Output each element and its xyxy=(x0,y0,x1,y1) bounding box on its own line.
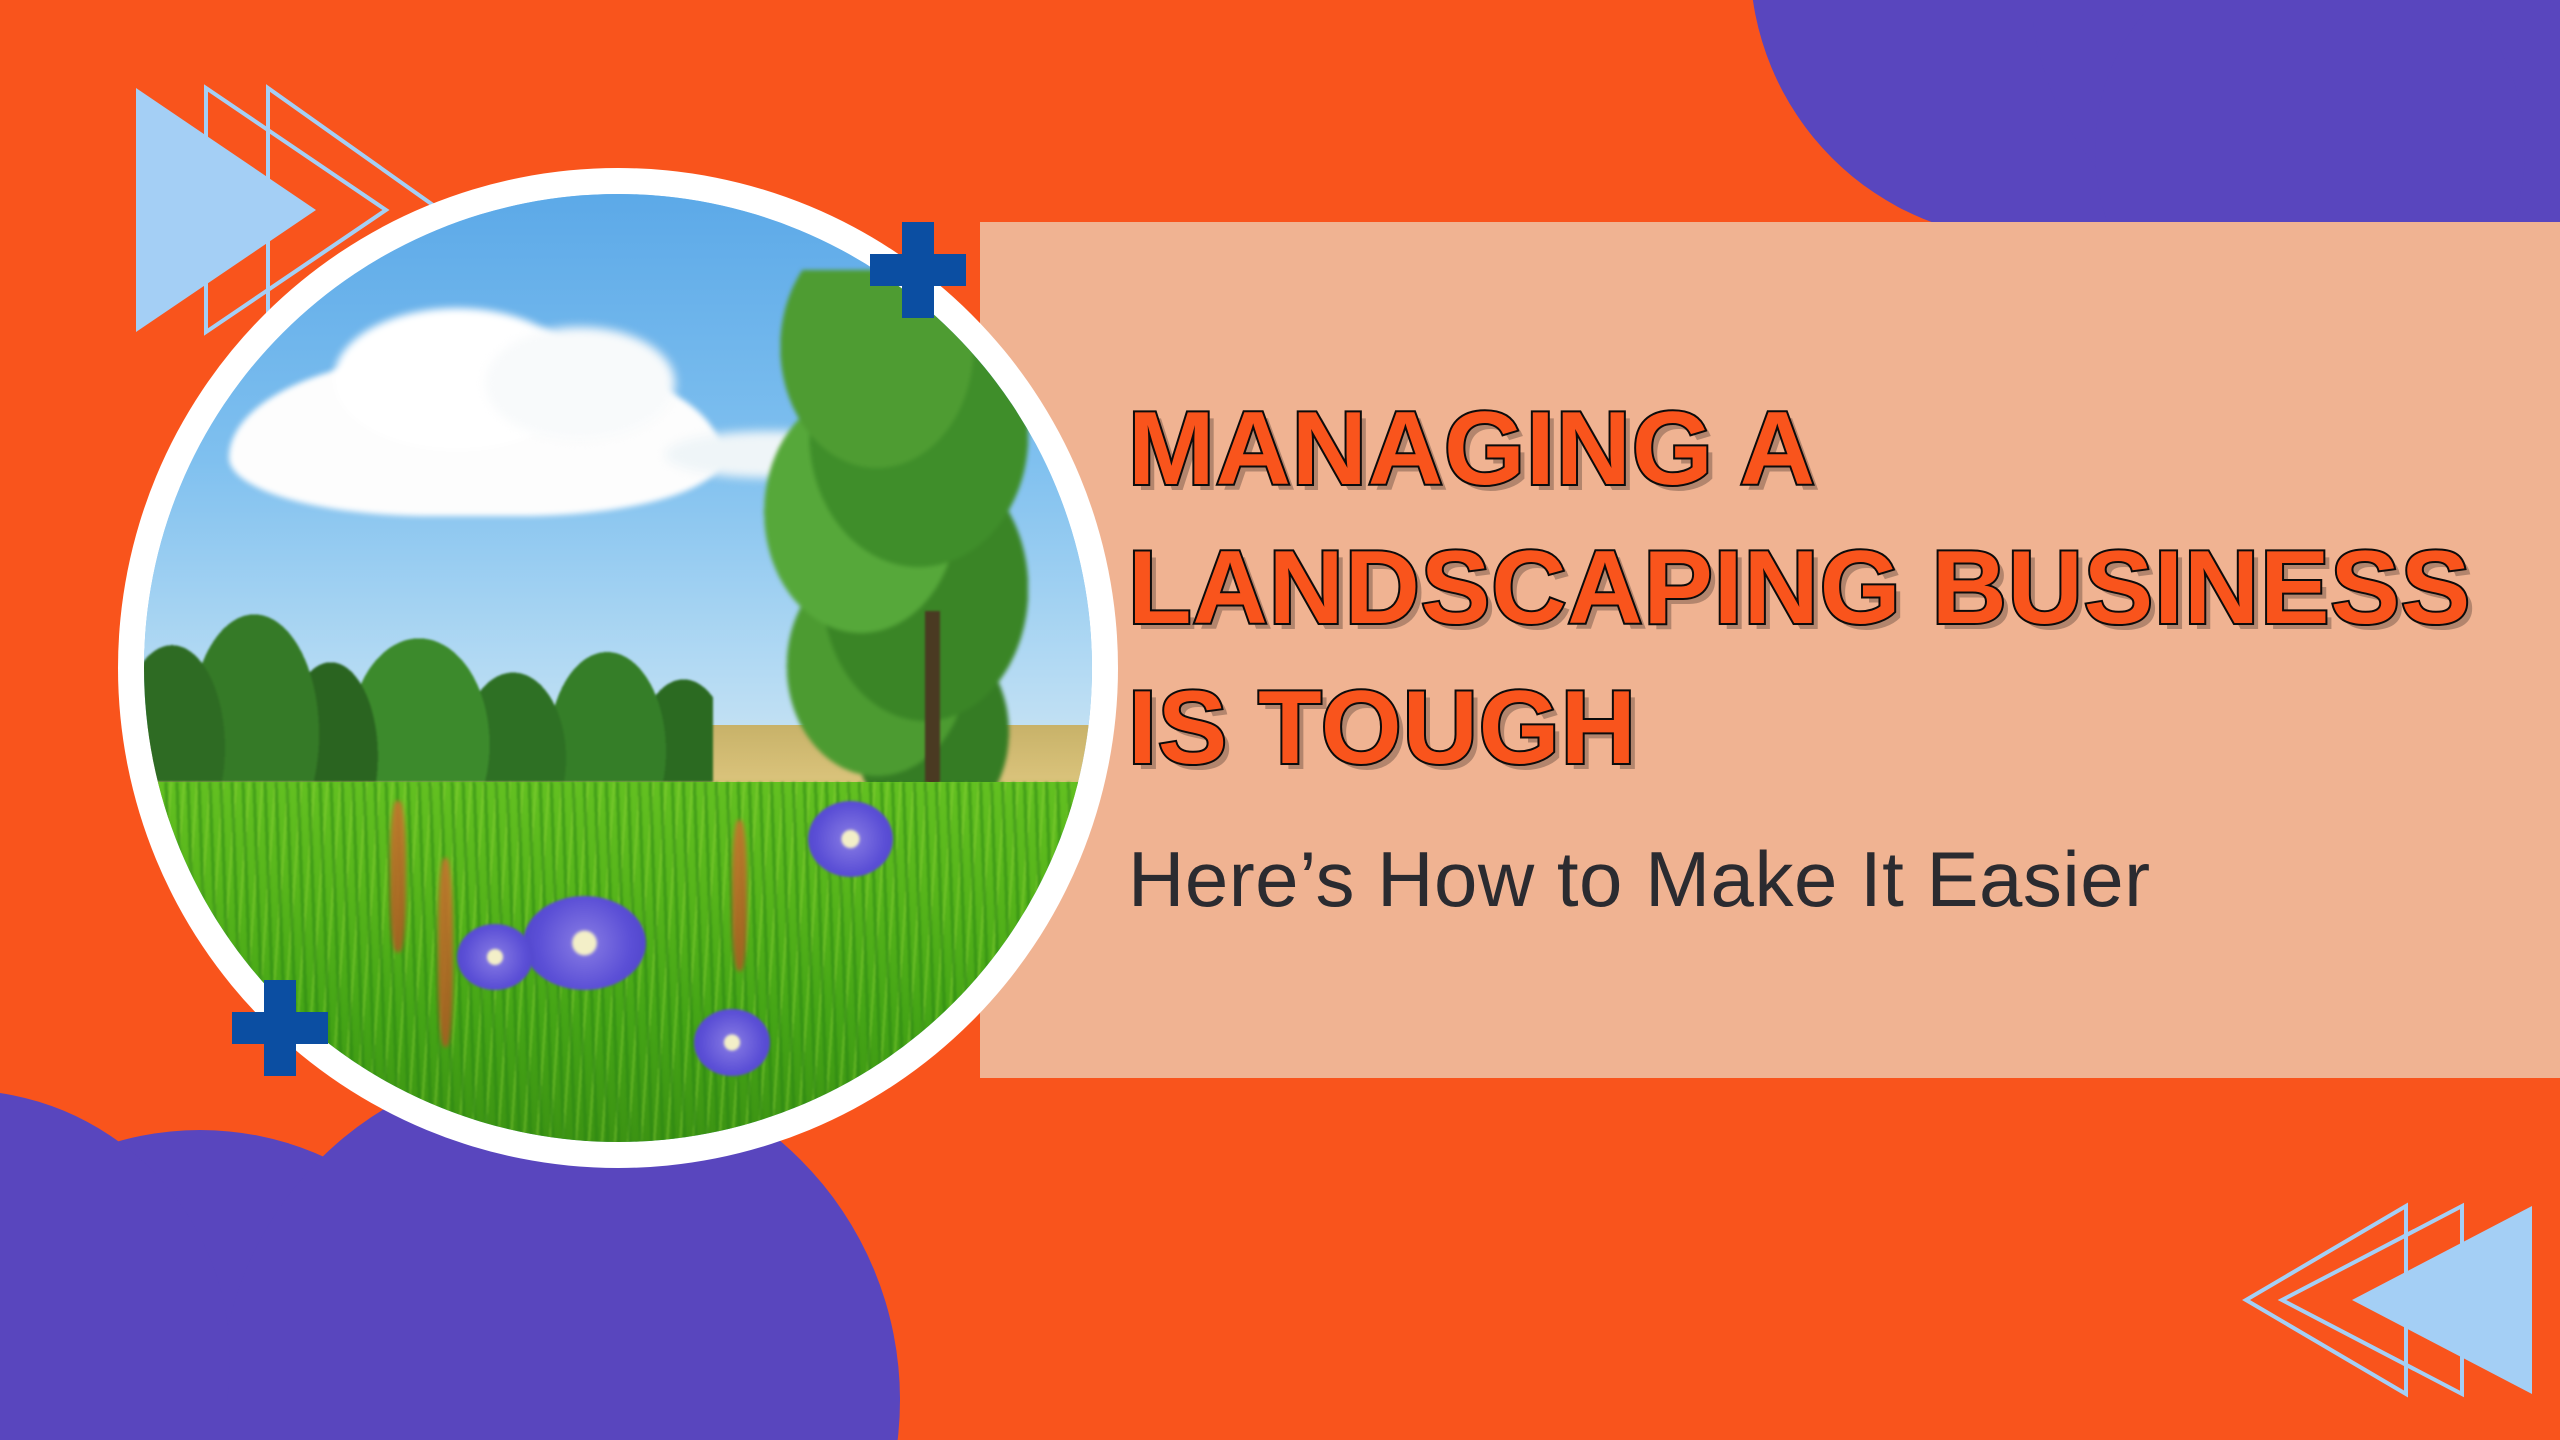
blue-flower xyxy=(808,801,893,877)
page-title: MANAGING A LANDSCAPING BUSINESS IS TOUGH xyxy=(1128,380,2528,798)
chevron-left-icon xyxy=(2240,1200,2540,1400)
blue-flower xyxy=(694,1009,770,1075)
cloud-puff xyxy=(485,327,675,441)
seedhead-plant xyxy=(390,801,405,953)
plus-mark-top xyxy=(870,222,966,318)
willow-tree xyxy=(732,270,1054,820)
poster-canvas: MANAGING A LANDSCAPING BUSINESS IS TOUGH… xyxy=(0,0,2560,1440)
plus-mark-bottom xyxy=(232,980,328,1076)
treeline xyxy=(144,611,713,782)
seedhead-plant xyxy=(732,820,747,972)
seedhead-plant xyxy=(438,858,453,1048)
blue-flower xyxy=(457,924,533,990)
bottom-right-chevrons xyxy=(2240,1200,2540,1400)
text-block: MANAGING A LANDSCAPING BUSINESS IS TOUGH… xyxy=(1128,380,2528,925)
blue-flower xyxy=(523,896,646,991)
page-subtitle: Here’s How to Make It Easier xyxy=(1128,834,2528,925)
